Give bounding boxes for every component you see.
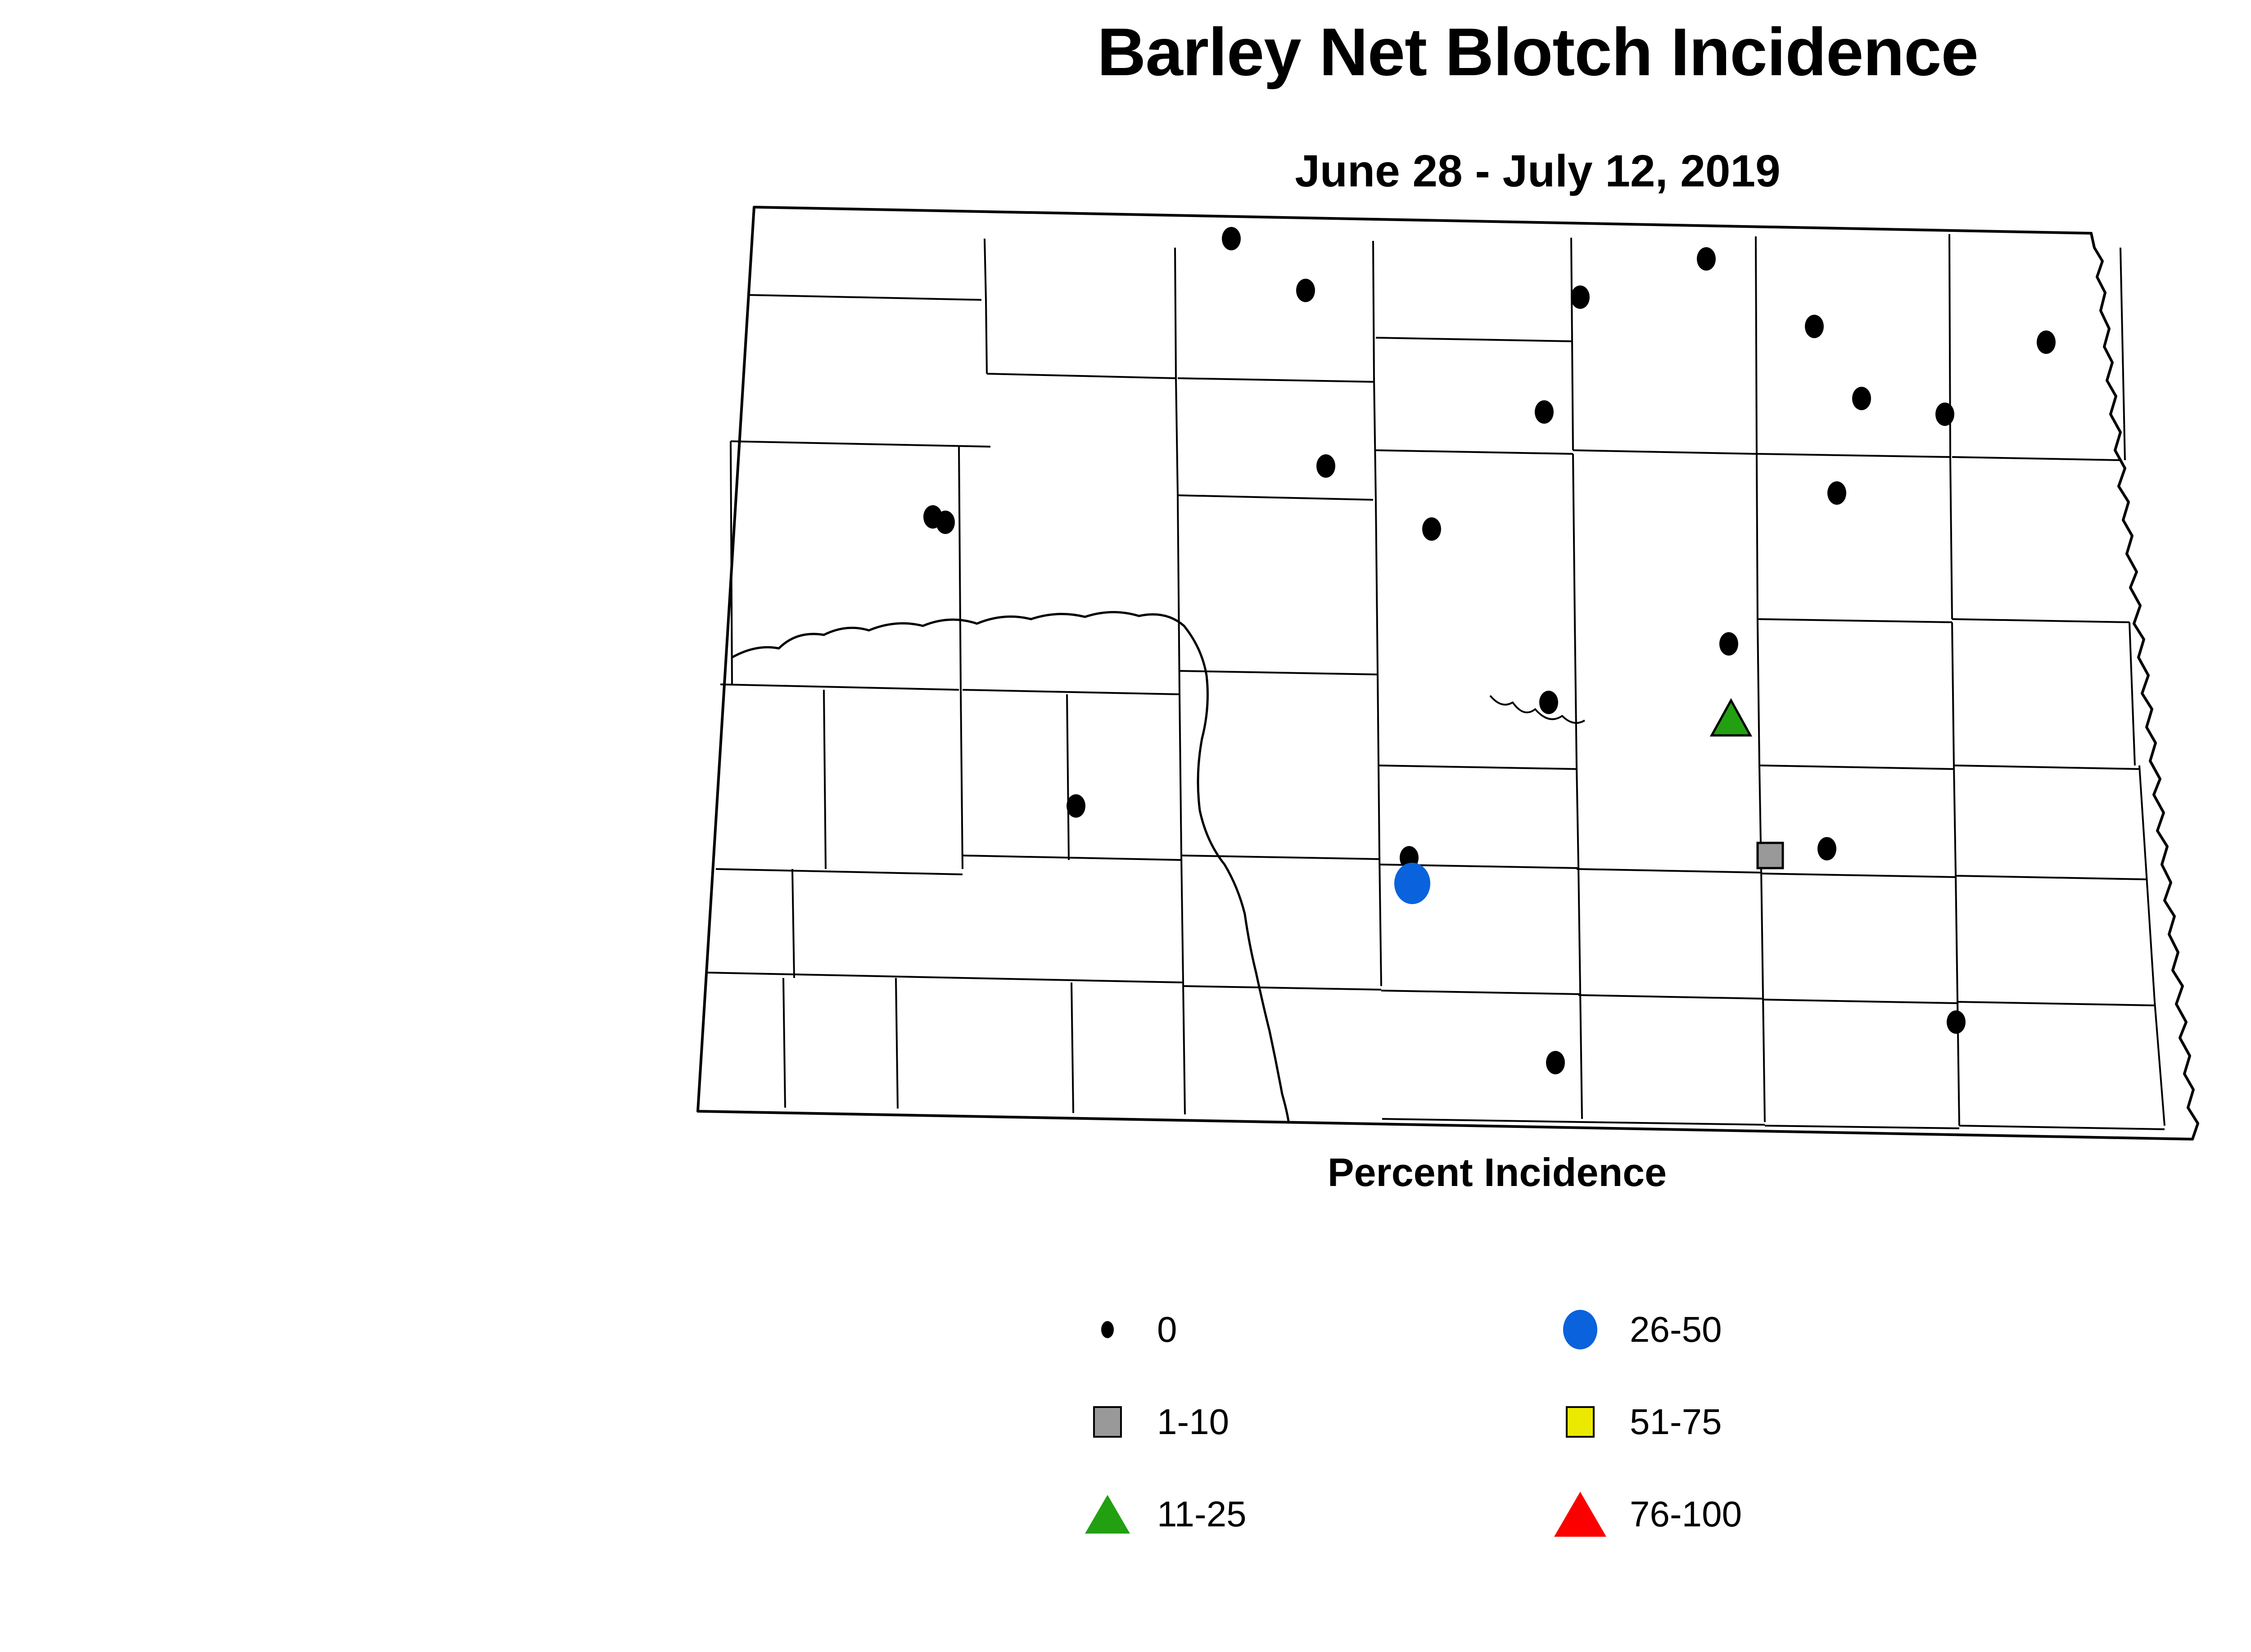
legend-item-26-50[interactable]: 26-50: [1549, 1310, 1976, 1349]
large-blue-circle-icon: [1549, 1310, 1612, 1349]
data-point-0: [1827, 481, 1846, 505]
data-point-0: [1222, 227, 1241, 250]
data-point-0: [1546, 1051, 1565, 1074]
green-triangle-icon: [1076, 1495, 1139, 1534]
data-point-0: [1535, 400, 1554, 424]
legend-item-51-75[interactable]: 51-75: [1549, 1404, 1976, 1440]
red-triangle-icon: [1549, 1492, 1612, 1537]
state-outline: [698, 207, 2198, 1139]
legend-title: Percent Incidence: [0, 1153, 2251, 1192]
small-black-circle-icon: [1076, 1321, 1139, 1338]
legend-item-76-100[interactable]: 76-100: [1549, 1492, 1976, 1537]
data-point-0: [1296, 279, 1315, 302]
legend-item-11-25[interactable]: 11-25: [1076, 1495, 1549, 1534]
legend-item-label: 51-75: [1630, 1404, 1722, 1440]
data-point-0: [1719, 632, 1738, 656]
legend-items: 0 26-50 1-10 51-75: [1076, 1283, 1976, 1560]
data-point-0: [1539, 691, 1558, 714]
data-point-26-50: [1394, 863, 1430, 904]
data-point-0: [1947, 1010, 1966, 1034]
north-dakota-county-map: [644, 180, 2251, 1184]
yellow-square-icon: [1549, 1406, 1612, 1438]
data-point-0: [936, 511, 955, 534]
page-title: Barley Net Blotch Incidence: [0, 18, 2251, 86]
data-point-0: [1935, 403, 1954, 426]
legend-item-label: 1-10: [1157, 1404, 1229, 1440]
data-point-0: [1817, 837, 1836, 860]
legend-item-label: 11-25: [1157, 1496, 1247, 1532]
data-point-0: [1697, 247, 1716, 271]
data-point-0: [1571, 285, 1590, 309]
legend-row: 0 26-50: [1076, 1283, 1976, 1376]
data-point-0: [1316, 454, 1335, 478]
legend-row: 1-10 51-75: [1076, 1376, 1976, 1468]
legend-row: 11-25 76-100: [1076, 1468, 1976, 1560]
legend-item-0[interactable]: 0: [1076, 1312, 1549, 1348]
data-point-1-10: [1758, 843, 1783, 868]
legend-item-label: 26-50: [1630, 1312, 1722, 1348]
data-point-0: [1805, 315, 1824, 338]
legend-item-label: 76-100: [1630, 1496, 1742, 1532]
legend-item-1-10[interactable]: 1-10: [1076, 1404, 1549, 1440]
legend: Percent Incidence 0 26-50 1-10: [0, 1153, 2251, 1192]
figure-root: Barley Net Blotch Incidence June 28 - Ju…: [0, 0, 2251, 1652]
data-point-0: [1067, 794, 1085, 818]
county-boundaries: [698, 207, 2198, 1139]
data-point-0: [1422, 517, 1441, 541]
gray-square-icon: [1076, 1406, 1139, 1438]
legend-item-label: 0: [1157, 1312, 1177, 1348]
map-svg: [644, 180, 2251, 1184]
data-point-0: [2037, 330, 2056, 354]
data-point-0: [1852, 387, 1871, 410]
